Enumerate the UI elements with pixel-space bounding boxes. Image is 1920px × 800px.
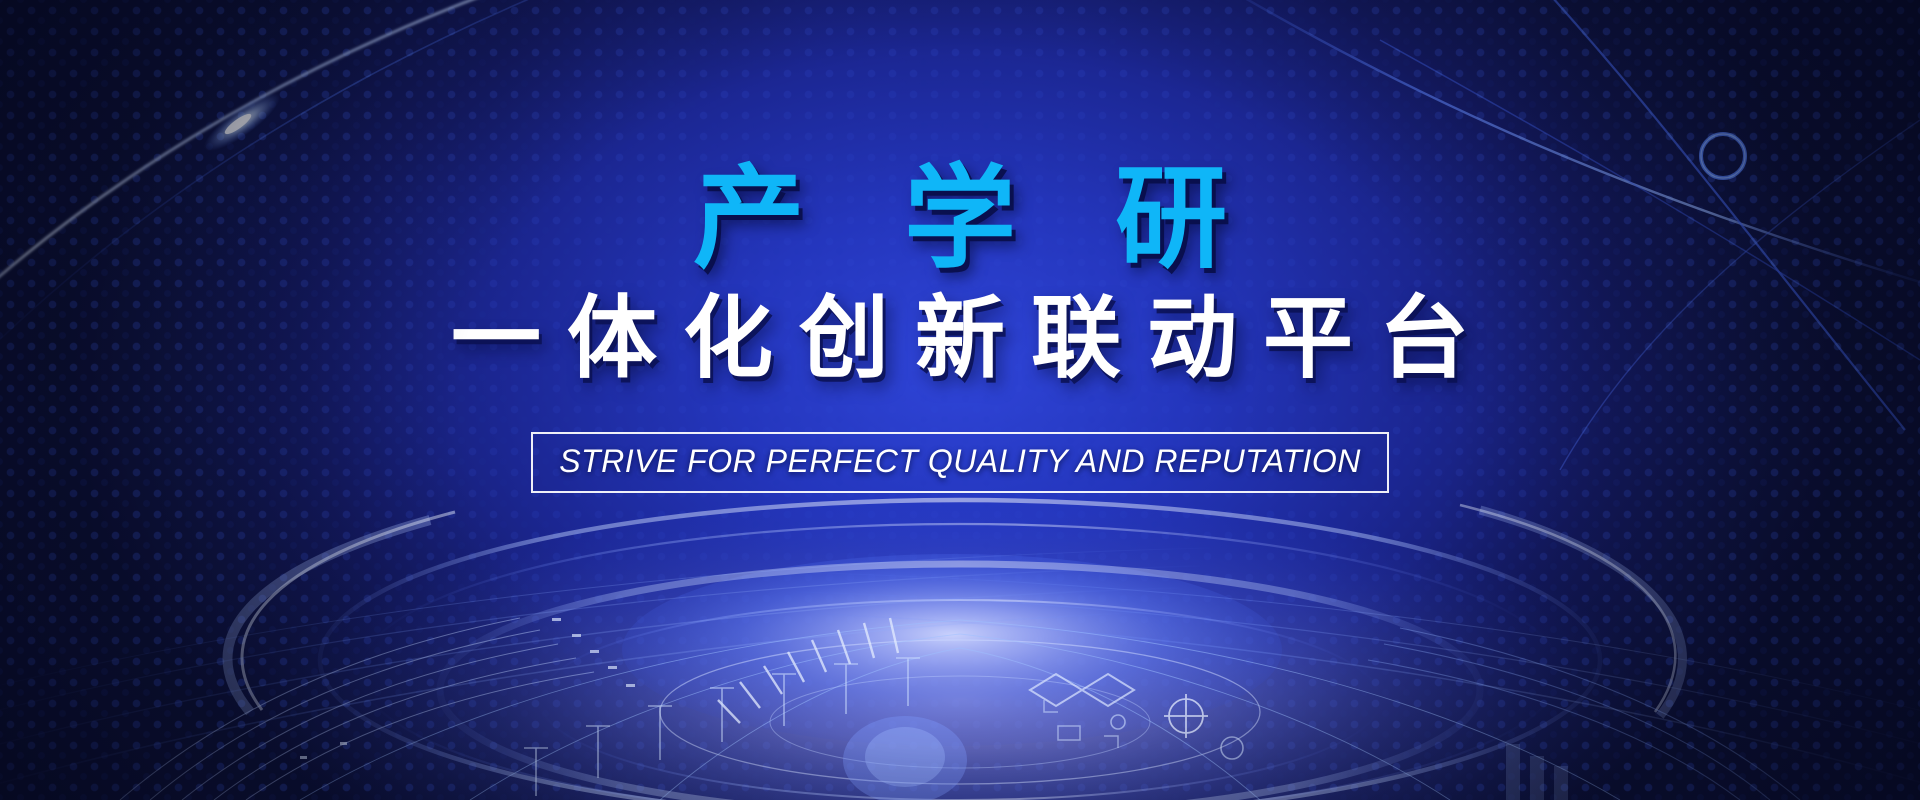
page-subtitle: 一体化创新联动平台: [425, 292, 1495, 387]
promo-banner: 产 学 研 一体化创新联动平台 STRIVE FOR PERFECT QUALI…: [0, 0, 1920, 800]
page-title: 产 学 研: [659, 160, 1261, 278]
banner-content: 产 学 研 一体化创新联动平台 STRIVE FOR PERFECT QUALI…: [0, 0, 1920, 800]
english-tagline-box: STRIVE FOR PERFECT QUALITY AND REPUTATIO…: [531, 432, 1389, 493]
english-tagline: STRIVE FOR PERFECT QUALITY AND REPUTATIO…: [559, 443, 1361, 480]
